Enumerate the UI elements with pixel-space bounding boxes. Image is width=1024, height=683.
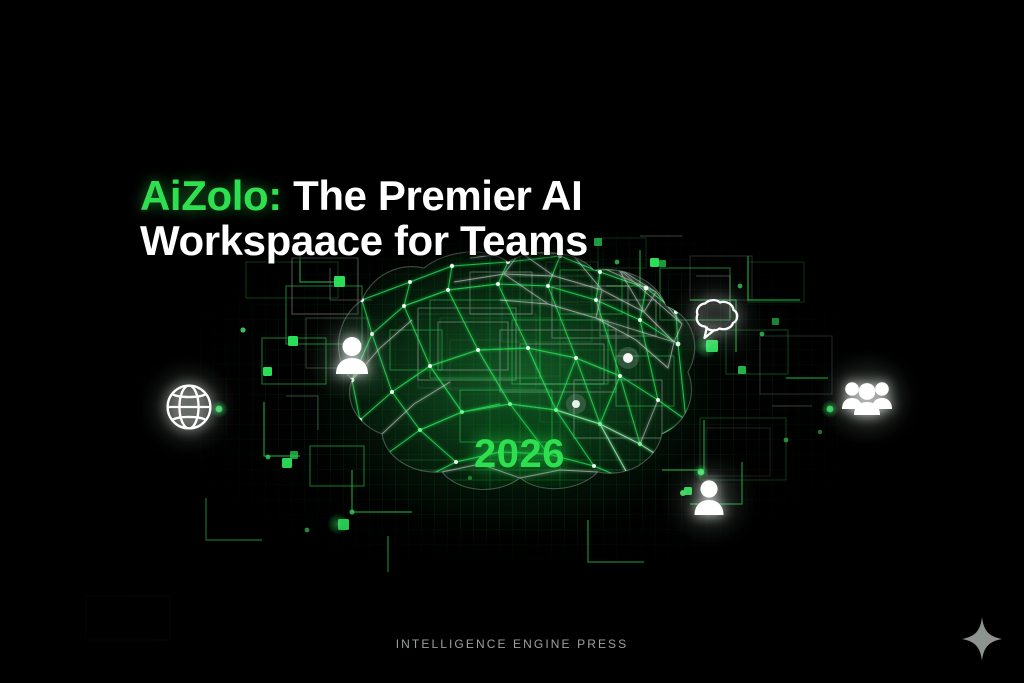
- title-block: AiZolo: The Premier AI Workspaace for Te…: [140, 174, 700, 264]
- group-icon: [841, 378, 893, 418]
- title-line-1-rest: The Premier AI: [282, 172, 583, 219]
- circuit-traces: [0, 0, 1024, 683]
- person-icon: [692, 478, 726, 518]
- publisher-footer: INTELLIGENCE ENGINE PRESS: [0, 637, 1024, 651]
- chat-bubble-icon: [692, 297, 742, 343]
- four-point-star-icon: [962, 617, 1002, 661]
- globe-icon: [160, 378, 218, 436]
- title-line-2: Workspaace for Teams: [140, 219, 700, 264]
- title-line-1: AiZolo: The Premier AI: [140, 174, 700, 219]
- brain-network-artwork: [0, 0, 1024, 683]
- brand-name: AiZolo:: [140, 172, 282, 219]
- year-label: 2026: [474, 432, 565, 477]
- vignette-overlay: [0, 0, 1024, 683]
- presentation-slide: AiZolo: The Premier AI Workspaace for Te…: [0, 0, 1024, 683]
- person-icon: [332, 333, 372, 377]
- brain-wireframe-mesh: [0, 0, 1024, 683]
